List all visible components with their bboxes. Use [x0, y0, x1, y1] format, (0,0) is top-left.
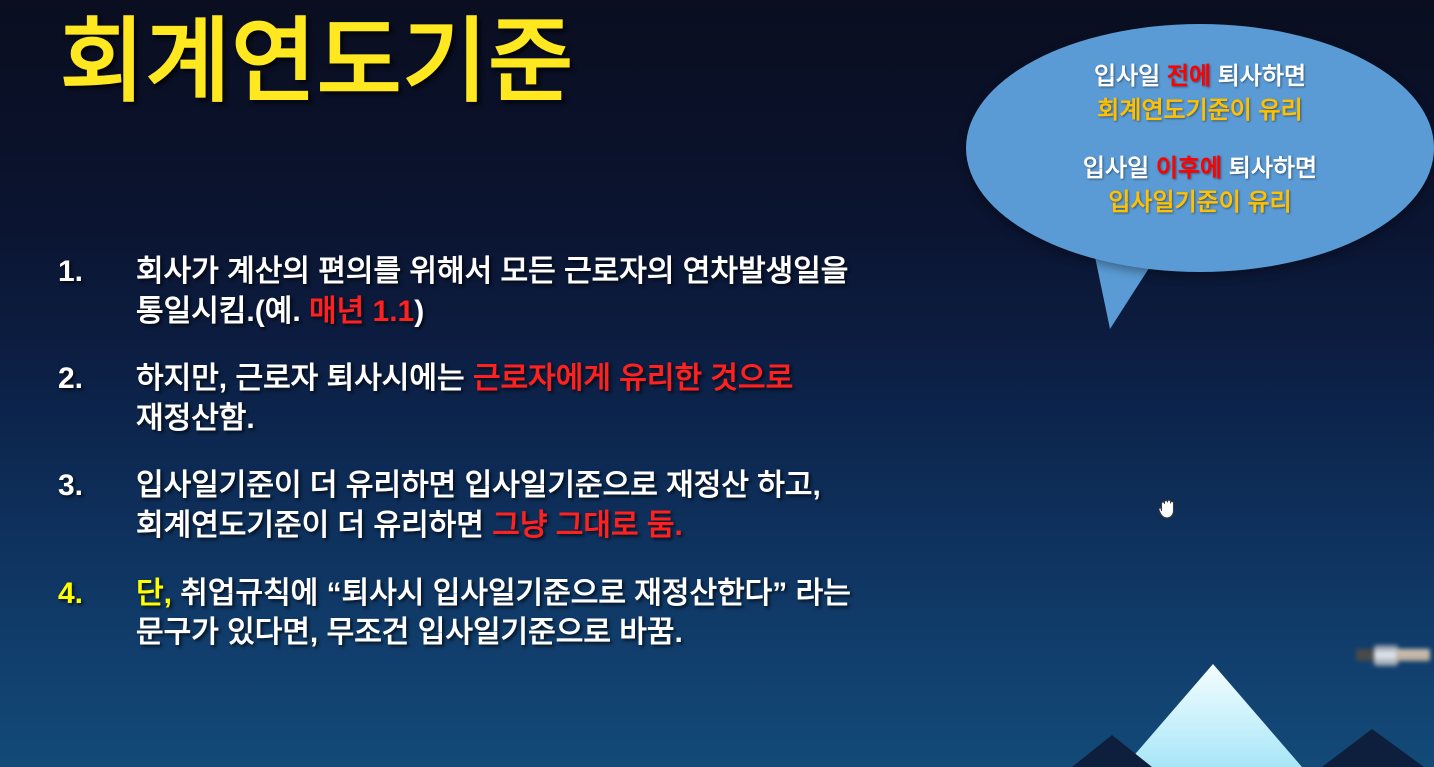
list-item-text: 회사가 계산의 편의를 위해서 모든 근로자의 연차발생일을 통일시킴.(예. …: [136, 252, 1158, 331]
bubble-line-1: 입사일 전에 퇴사하면: [966, 60, 1434, 94]
item3-line1: 입사일기준이 더 유리하면 입사일기준으로 재정산 하고,: [136, 469, 821, 502]
mountain-peak-dark-left: [1072, 735, 1152, 767]
list-item-number: 1.: [58, 252, 136, 292]
pen-segment-front: [1396, 649, 1430, 661]
mountain-peak-light: [1124, 664, 1302, 767]
pen-segment-mid: [1374, 645, 1398, 666]
item4-line1-highlight: 단,: [136, 577, 172, 610]
bubble-line-1-part1: 입사일: [1094, 63, 1167, 90]
list-item: 3. 입사일기준이 더 유리하면 입사일기준으로 재정산 하고, 회계연도기준이…: [58, 466, 1158, 545]
item2-line2: 재정산함.: [136, 402, 255, 435]
item3-line2-a: 회계연도기준이 더 유리하면: [136, 509, 492, 542]
bubble-line-3-highlight: 이후에: [1156, 155, 1222, 182]
bubble-line-3-part2: 퇴사하면: [1222, 155, 1317, 182]
bubble-line-1-highlight: 전에: [1167, 63, 1211, 90]
mountain-peak-dark-right: [1322, 729, 1424, 767]
item2-line1-a: 하지만, 근로자 퇴사시에는: [136, 362, 473, 395]
list-item-text: 하지만, 근로자 퇴사시에는 근로자에게 유리한 것으로 재정산함.: [136, 359, 1158, 438]
blurred-pen-object: [1356, 640, 1434, 670]
item4-line2: 문구가 있다면, 무조건 입사일기준으로 바꿈.: [136, 616, 683, 649]
item3-line2-highlight: 그냥 그대로 둠.: [492, 509, 683, 542]
bubble-line-2: 회계연도기준이 유리: [966, 94, 1434, 128]
list-item: 1. 회사가 계산의 편의를 위해서 모든 근로자의 연차발생일을 통일시킴.(…: [58, 252, 1158, 331]
bubble-line-3-part1: 입사일: [1083, 155, 1156, 182]
pen-segment-back: [1356, 649, 1376, 661]
bubble-line-3: 입사일 이후에 퇴사하면: [966, 152, 1434, 186]
list-item: 2. 하지만, 근로자 퇴사시에는 근로자에게 유리한 것으로 재정산함.: [58, 359, 1158, 438]
presentation-slide: 회계연도기준 입사일 전에 퇴사하면 회계연도기준이 유리 입사일 이후에 퇴사…: [0, 0, 1434, 767]
item4-line1-a: 취업규칙에 “퇴사시 입사일기준으로 재정산한다” 라는: [172, 577, 851, 610]
list-item-text: 입사일기준이 더 유리하면 입사일기준으로 재정산 하고, 회계연도기준이 더 …: [136, 466, 1158, 545]
list-item-number: 3.: [58, 466, 136, 506]
bubble-line-gap: [966, 128, 1434, 152]
list-item-number: 2.: [58, 359, 136, 399]
item1-line2-b: ): [414, 295, 424, 328]
item1-line1: 회사가 계산의 편의를 위해서 모든 근로자의 연차발생일을: [136, 255, 848, 288]
list-item-number: 4.: [58, 574, 136, 614]
numbered-list: 1. 회사가 계산의 편의를 위해서 모든 근로자의 연차발생일을 통일시킴.(…: [58, 252, 1158, 677]
item2-line1-highlight: 근로자에게 유리한 것으로: [473, 362, 793, 395]
hand-grab-cursor-icon: [1156, 494, 1182, 522]
list-item: 4. 단, 취업규칙에 “퇴사시 입사일기준으로 재정산한다” 라는 문구가 있…: [58, 574, 1158, 653]
list-item-text: 단, 취업규칙에 “퇴사시 입사일기준으로 재정산한다” 라는 문구가 있다면,…: [136, 574, 1158, 653]
page-title: 회계연도기준: [60, 12, 574, 113]
item1-line2-highlight: 매년 1.1: [309, 295, 414, 328]
speech-bubble-text: 입사일 전에 퇴사하면 회계연도기준이 유리 입사일 이후에 퇴사하면 입사일기…: [966, 60, 1434, 220]
bubble-line-4: 입사일기준이 유리: [966, 186, 1434, 220]
bubble-line-1-part2: 퇴사하면: [1211, 63, 1306, 90]
item1-line2-a: 통일시킴.(예.: [136, 295, 309, 328]
